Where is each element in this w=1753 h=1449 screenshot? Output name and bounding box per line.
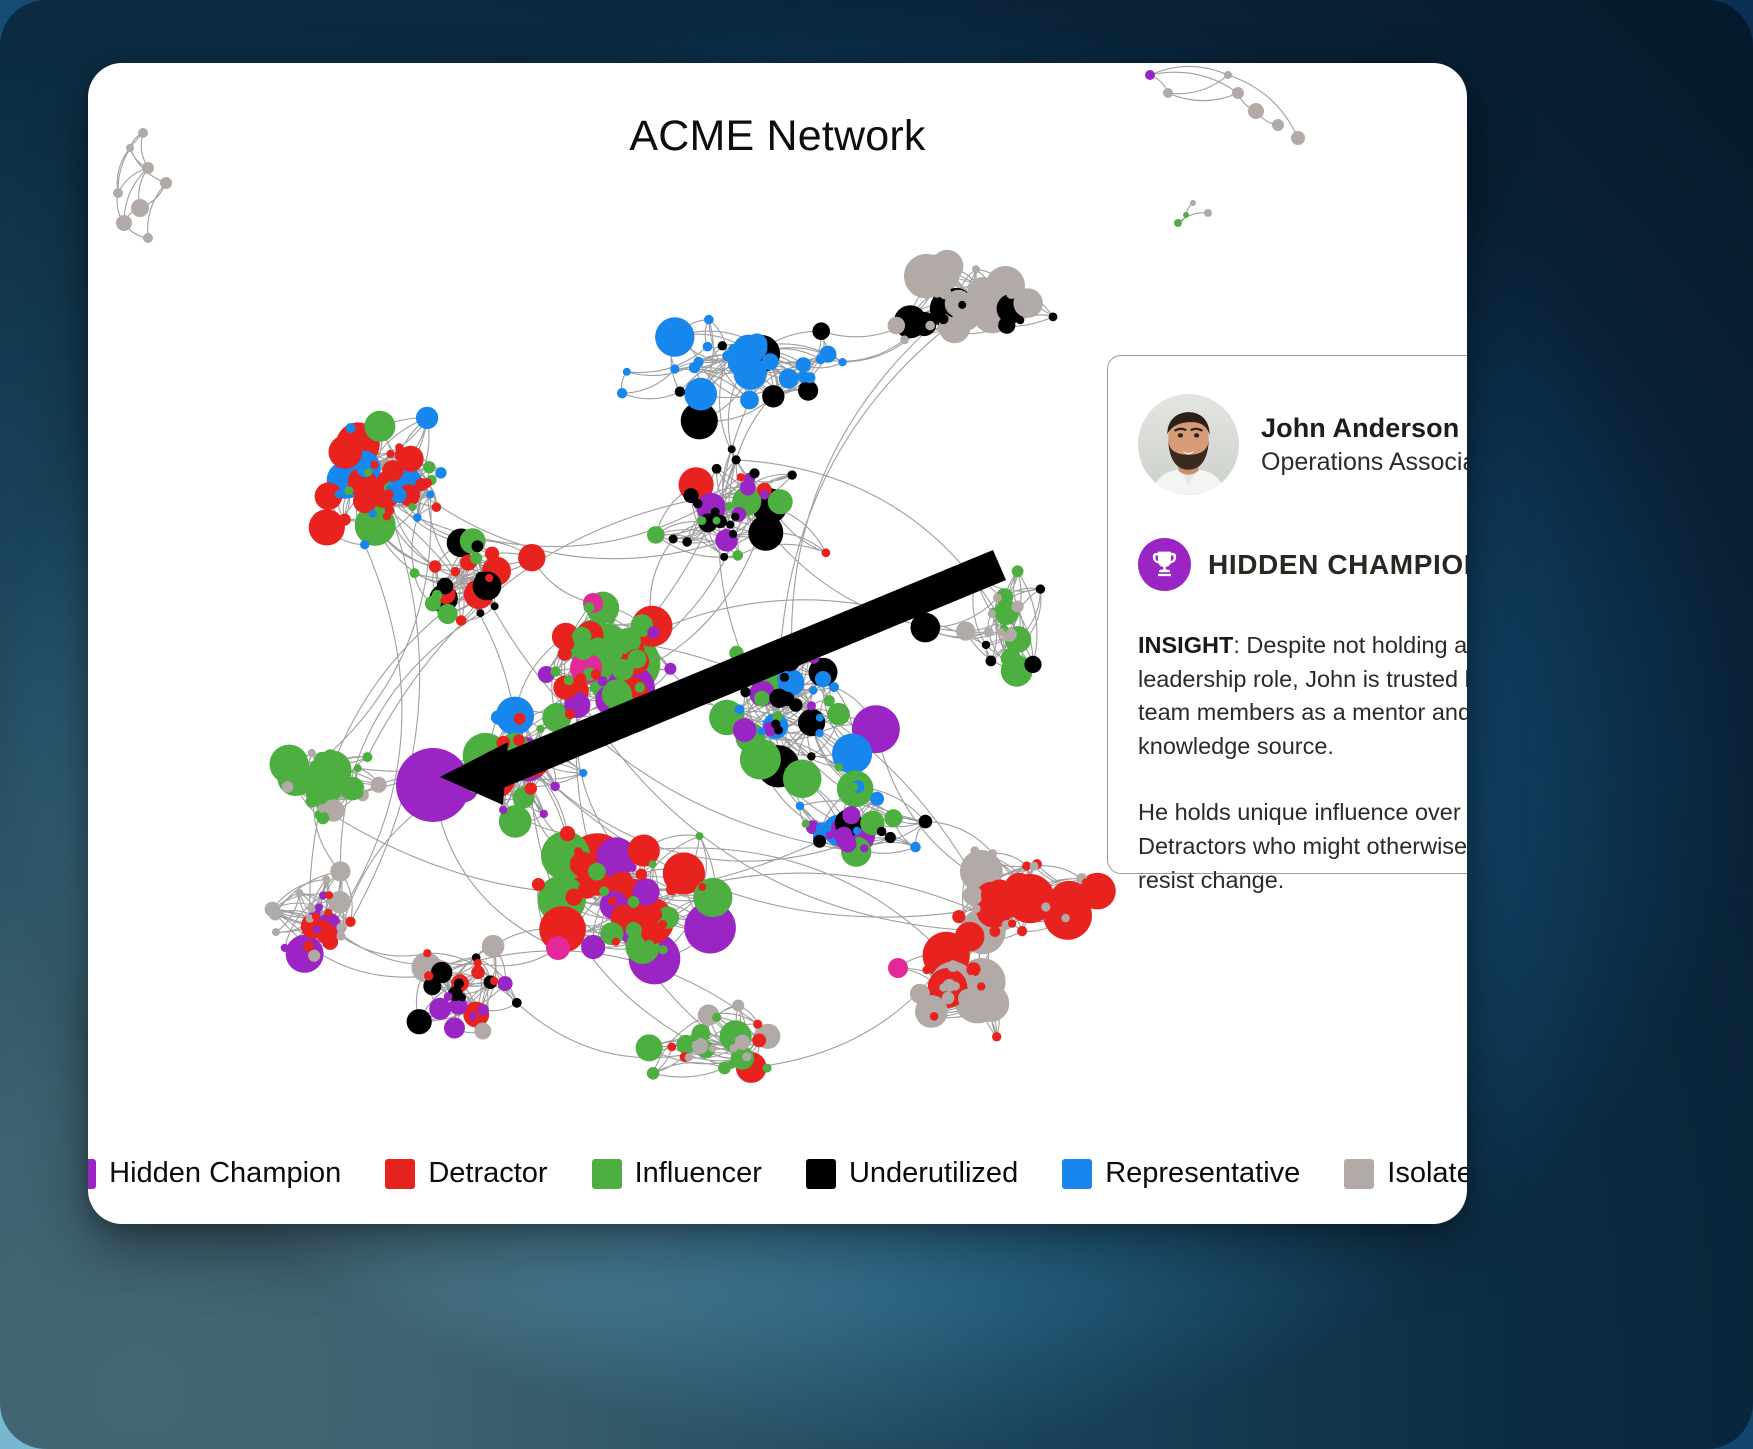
network-board: ACME Network Hi bbox=[88, 63, 1467, 1224]
legend-swatch-icon bbox=[1062, 1159, 1092, 1189]
insight-lead: INSIGHT bbox=[1138, 632, 1233, 658]
legend-item-representative[interactable]: Representative bbox=[1062, 1157, 1300, 1190]
badge-label: HIDDEN CHAMPION bbox=[1208, 549, 1467, 581]
legend-item-label: Representative bbox=[1105, 1157, 1300, 1190]
avatar bbox=[1138, 394, 1239, 495]
legend-item-label: Influencer bbox=[635, 1157, 762, 1190]
legend-item-label: Hidden Champion bbox=[109, 1157, 341, 1190]
person-role: Operations Associate bbox=[1261, 448, 1467, 477]
legend-item-underutilized[interactable]: Underutilized bbox=[806, 1157, 1018, 1190]
legend-swatch-icon bbox=[592, 1159, 622, 1189]
insight-paragraph-2: He holds unique influence over Detractor… bbox=[1138, 796, 1467, 897]
legend: Hidden Champion Detractor Influencer Und… bbox=[88, 1157, 1467, 1190]
person-row: John Anderson Operations Associate bbox=[1138, 394, 1467, 495]
legend-item-hidden-champion[interactable]: Hidden Champion bbox=[88, 1157, 341, 1190]
badge-row: HIDDEN CHAMPION bbox=[1138, 538, 1467, 591]
legend-item-influencer[interactable]: Influencer bbox=[592, 1157, 762, 1190]
trophy-icon bbox=[1138, 538, 1191, 591]
legend-item-detractor[interactable]: Detractor bbox=[385, 1157, 547, 1190]
legend-item-label: Underutilized bbox=[849, 1157, 1018, 1190]
legend-swatch-icon bbox=[385, 1159, 415, 1189]
insight-paragraph-1: INSIGHT: Despite not holding a leadershi… bbox=[1138, 629, 1467, 763]
person-meta: John Anderson Operations Associate bbox=[1261, 413, 1467, 477]
legend-swatch-icon bbox=[1344, 1159, 1374, 1189]
legend-item-isolated[interactable]: Isolated bbox=[1344, 1157, 1467, 1190]
legend-swatch-icon bbox=[88, 1159, 96, 1189]
trophy-glyph-icon bbox=[1149, 549, 1180, 580]
person-name: John Anderson bbox=[1261, 413, 1467, 444]
legend-item-label: Isolated bbox=[1387, 1157, 1467, 1190]
legend-item-label: Detractor bbox=[428, 1157, 547, 1190]
screenshot-root: ACME Network Hi bbox=[0, 0, 1753, 1449]
insight-card[interactable]: John Anderson Operations Associate HIDDE… bbox=[1107, 355, 1467, 874]
legend-swatch-icon bbox=[806, 1159, 836, 1189]
insight-text: INSIGHT: Despite not holding a leadershi… bbox=[1138, 629, 1467, 897]
avatar-photo-icon bbox=[1138, 394, 1239, 495]
